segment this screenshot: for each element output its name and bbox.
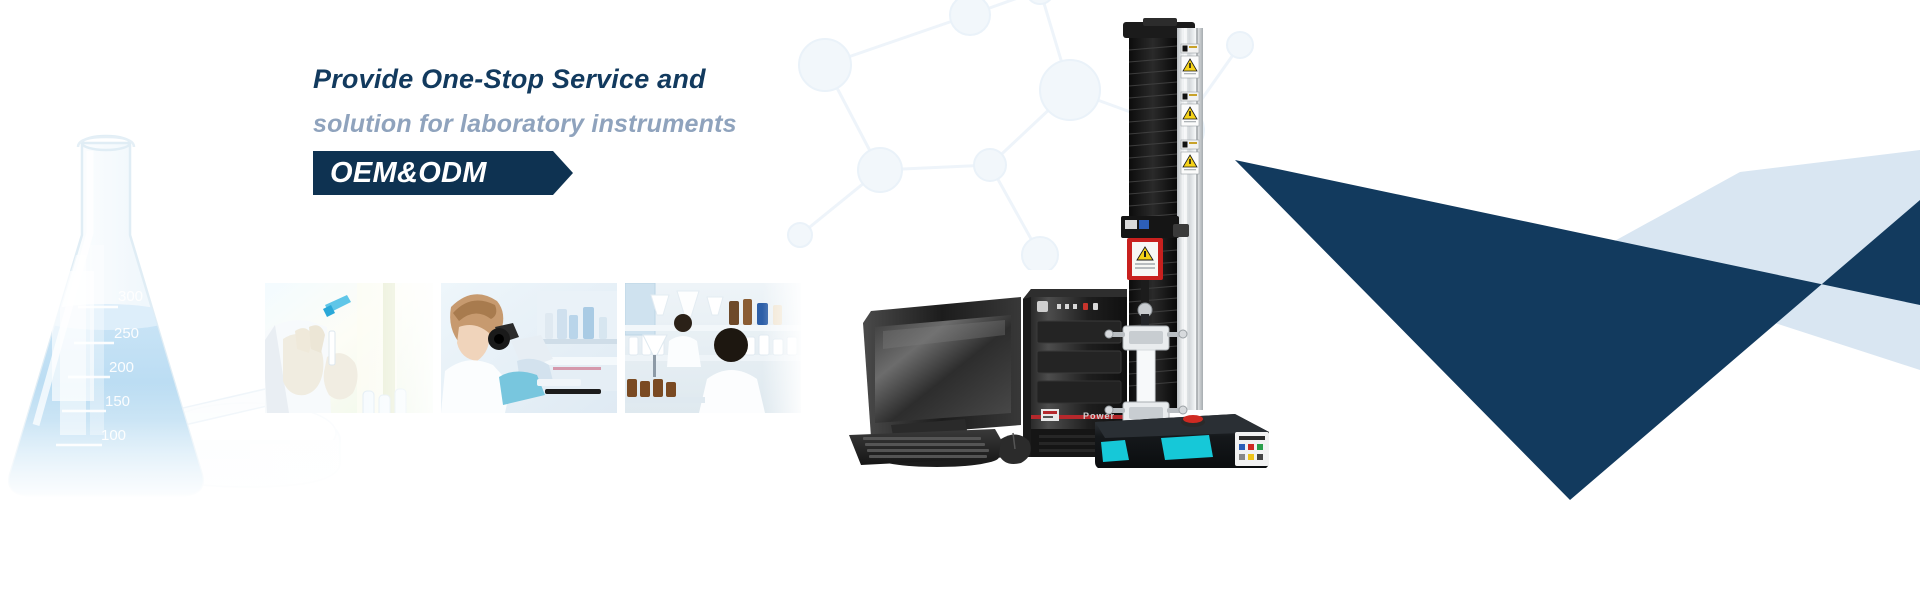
photo-strip — [265, 283, 801, 413]
photo-pipetting — [265, 283, 433, 413]
oem-odm-badge[interactable]: OEM&ODM — [313, 151, 573, 197]
photo-microscope — [441, 283, 617, 413]
headline-line-1: Provide One-Stop Service and — [313, 57, 833, 101]
headline-line-2: solution for laboratory instruments — [313, 101, 833, 147]
badge-label: OEM&ODM — [330, 157, 487, 189]
headline-block: Provide One-Stop Service and solution fo… — [313, 57, 833, 197]
universal-tensile-testing-machine — [1085, 18, 1285, 468]
photo-lab-bench — [625, 283, 801, 413]
load-cell — [1127, 238, 1163, 280]
crosshead — [1121, 216, 1189, 238]
light-blue-arrow-shape — [1580, 150, 1920, 370]
promo-banner: 300 250 200 150 100 Provide One-Stop Ser… — [0, 0, 1920, 597]
machine-base — [1095, 414, 1269, 468]
warning-labels — [1181, 44, 1199, 174]
navy-arrow-shape — [1235, 160, 1920, 500]
